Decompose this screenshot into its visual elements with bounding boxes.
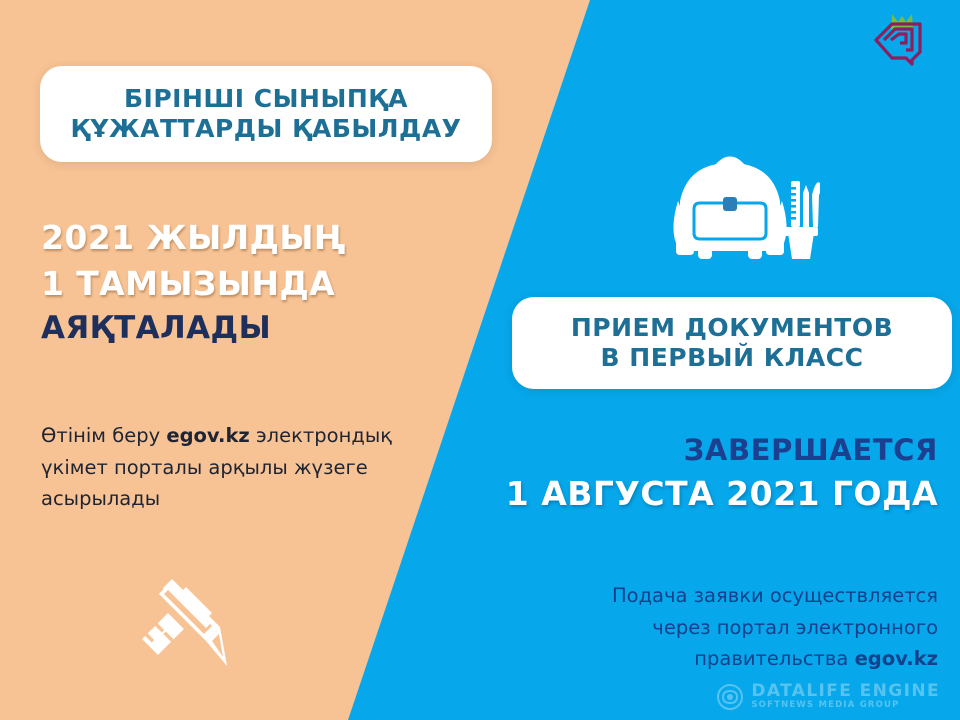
backpack-icon xyxy=(660,145,820,271)
russian-pill-line2: В ПЕРВЫЙ КЛАСС xyxy=(571,343,893,374)
kazakh-headline-line3: АЯҚТАЛАДЫ xyxy=(41,307,421,350)
russian-body-text: Подача заявки осуществляется через порта… xyxy=(568,580,938,675)
kazakh-body-text: Өтінім беру egov.kz электрондық үкімет п… xyxy=(41,420,441,515)
kazakh-headline-line1: 2021 ЖЫЛДЫҢ xyxy=(41,215,421,261)
poster-canvas: БІРІНШІ СЫНЫПҚА ҚҰЖАТТАРДЫ ҚАБЫЛДАУ 2021… xyxy=(0,0,960,720)
russian-body-link: egov.kz xyxy=(855,647,938,670)
russian-title-pill: ПРИЕМ ДОКУМЕНТОВ В ПЕРВЫЙ КЛАСС xyxy=(512,297,952,389)
kazakh-headline: 2021 ЖЫЛДЫҢ 1 ТАМЫЗЫНДА АЯҚТАЛАДЫ xyxy=(41,215,421,351)
pencil-ruler-icon xyxy=(128,565,232,681)
watermark-subtitle: SOFTNEWS MEDIA GROUP xyxy=(751,701,940,710)
kazakh-title-pill: БІРІНШІ СЫНЫПҚА ҚҰЖАТТАРДЫ ҚАБЫЛДАУ xyxy=(40,66,492,162)
kazakh-body-before: Өтінім беру xyxy=(41,424,166,447)
kazakh-pill-line1: БІРІНШІ СЫНЫПҚА xyxy=(71,84,462,115)
russian-headline: ЗАВЕРШАЕТСЯ 1 АВГУСТА 2021 ГОДА xyxy=(418,432,938,516)
kazakh-headline-line2: 1 ТАМЫЗЫНДА xyxy=(41,261,421,307)
brand-logo-icon xyxy=(868,10,932,74)
watermark: DATALIFE ENGINE SOFTNEWS MEDIA GROUP xyxy=(717,683,940,710)
eye-logo-icon xyxy=(717,684,743,710)
kazakh-body-link: egov.kz xyxy=(166,424,249,447)
russian-headline-line2: 1 АВГУСТА 2021 ГОДА xyxy=(418,473,938,516)
watermark-title: DATALIFE ENGINE xyxy=(751,683,940,701)
russian-headline-line1: ЗАВЕРШАЕТСЯ xyxy=(418,432,938,470)
kazakh-pill-line2: ҚҰЖАТТАРДЫ ҚАБЫЛДАУ xyxy=(71,114,462,145)
russian-pill-line1: ПРИЕМ ДОКУМЕНТОВ xyxy=(571,313,893,344)
